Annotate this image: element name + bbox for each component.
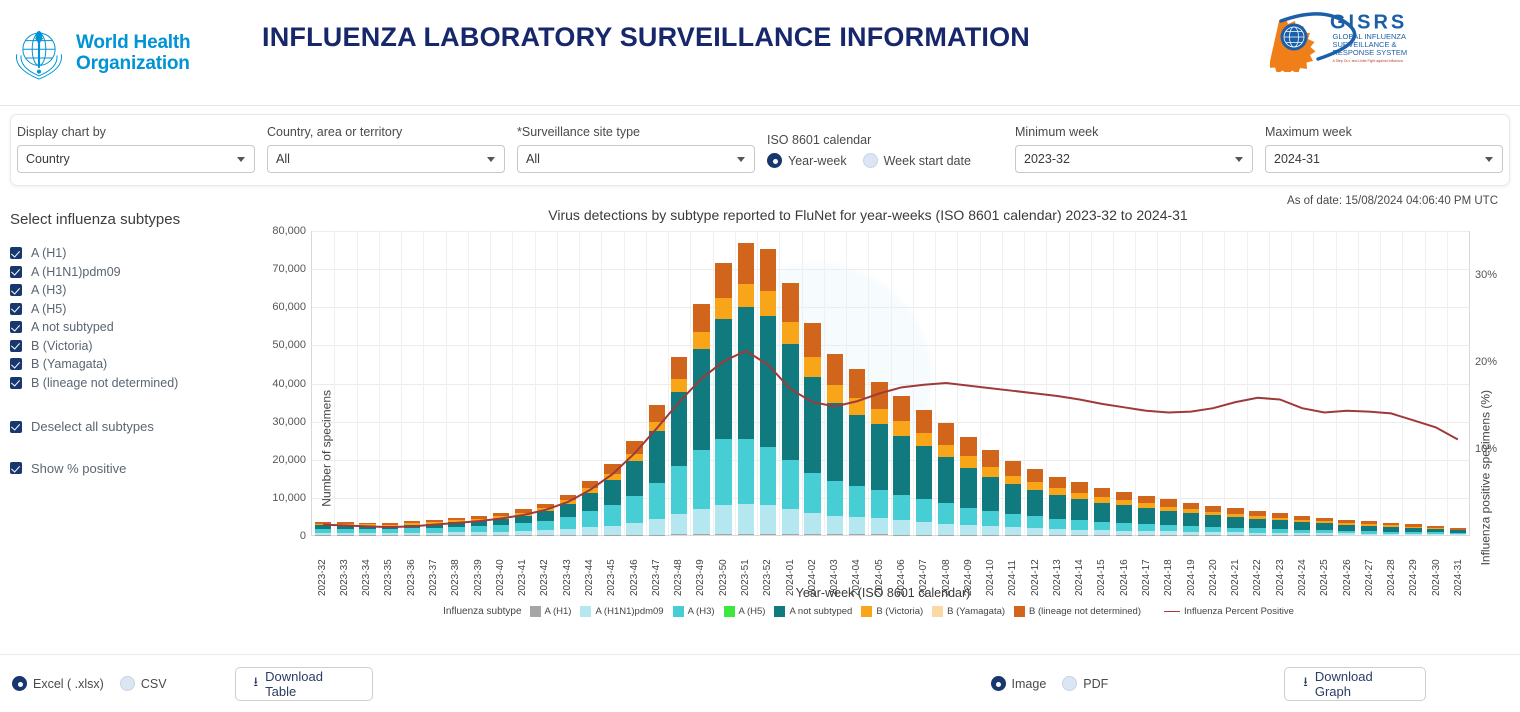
- legend-swatch: [673, 606, 684, 617]
- stacked-bar[interactable]: [382, 523, 398, 535]
- bar-segment: [671, 392, 687, 466]
- legend-item[interactable]: B (Yamagata): [932, 606, 1005, 617]
- bar-segment: [560, 504, 576, 517]
- bar-segment: [960, 468, 976, 508]
- legend-label: Influenza Percent Positive: [1184, 606, 1294, 617]
- bar-segment: [760, 447, 776, 505]
- stacked-bar[interactable]: [649, 405, 665, 535]
- bar-segment: [1071, 482, 1087, 493]
- bar-segment: [827, 403, 843, 481]
- chart-zone: Virus detections by subtype reported to …: [256, 207, 1520, 617]
- bar-segment: [893, 421, 909, 435]
- legend-label: B (lineage not determined): [1029, 606, 1141, 617]
- stacked-bar[interactable]: [827, 354, 843, 535]
- bar-segment: [626, 441, 642, 453]
- stacked-bar[interactable]: [871, 382, 887, 535]
- x-tick-label: 2024-10: [985, 539, 996, 596]
- subtype-checkbox-4[interactable]: A not subtyped: [6, 320, 256, 334]
- bar-segment: [960, 456, 976, 467]
- country-value: All: [276, 152, 290, 166]
- subtype-label: A (H1N1)pdm09: [31, 265, 121, 279]
- stacked-bar[interactable]: [337, 522, 353, 535]
- file-format-option-excel[interactable]: Excel ( .xlsx): [12, 676, 104, 691]
- bar-segment: [782, 322, 798, 344]
- bar-segment: [582, 511, 598, 527]
- bar-segment: [1160, 511, 1176, 525]
- bar-segment: [693, 349, 709, 450]
- bar-segment: [738, 534, 754, 535]
- y-tick-label: 60,000: [272, 301, 312, 313]
- stacked-bar[interactable]: [760, 249, 776, 535]
- bar-segment: [649, 422, 665, 432]
- y-tick-label: 70,000: [272, 263, 312, 275]
- bar-segment: [715, 439, 731, 505]
- bar-segment: [982, 477, 998, 511]
- bar-segment: [960, 508, 976, 526]
- x-tick-slot: 2024-24: [1291, 536, 1313, 596]
- legend-swatch: [530, 606, 541, 617]
- deselect-all-subtypes-checkbox[interactable]: Deselect all subtypes: [6, 419, 256, 434]
- bar-segment: [982, 526, 998, 534]
- filter-country: Country, area or territory All: [261, 125, 511, 173]
- legend-label: A (H1): [545, 606, 572, 617]
- bar-slot: [1224, 231, 1246, 535]
- bar-slot: [1113, 231, 1135, 535]
- bar-segment: [582, 481, 598, 488]
- as-of-date: As of date: 15/08/2024 04:06:40 PM UTC: [0, 195, 1520, 207]
- stacked-bar[interactable]: [782, 283, 798, 535]
- stacked-bar[interactable]: [1160, 499, 1176, 535]
- x-tick-slot: 2023-50: [712, 536, 734, 596]
- bar-slot: [379, 231, 401, 535]
- sidebar-title: Select influenza subtypes: [10, 211, 256, 228]
- calendar-option-year-week[interactable]: Year-week: [767, 153, 847, 168]
- x-tick-slot: 2024-17: [1135, 536, 1157, 596]
- bar-segment: [1049, 477, 1065, 489]
- x-tick-label: 2024-19: [1186, 539, 1197, 596]
- stacked-bar[interactable]: [471, 516, 487, 535]
- bar-segment: [893, 396, 909, 421]
- bar-segment: [715, 534, 731, 535]
- bar-slot: [490, 231, 512, 535]
- stacked-bar[interactable]: [916, 410, 932, 535]
- stacked-bar[interactable]: [626, 441, 642, 535]
- filter-bar: Display chart by Country Country, area o…: [10, 114, 1510, 186]
- bar-segment: [760, 505, 776, 534]
- stacked-bar[interactable]: [1294, 516, 1310, 535]
- x-tick-label: 2023-44: [584, 539, 595, 596]
- stacked-bar[interactable]: [1205, 506, 1221, 535]
- checkbox-checked-icon: [10, 303, 22, 315]
- bar-slot: [913, 231, 935, 535]
- x-tick-slot: 2024-29: [1403, 536, 1425, 596]
- stacked-bar[interactable]: [1071, 482, 1087, 535]
- site-type-value: All: [526, 152, 540, 166]
- graph-format-option-pdf-label: PDF: [1083, 677, 1108, 691]
- legend-item[interactable]: A (H1N1)pdm09: [580, 606, 663, 617]
- subtype-checkbox-2[interactable]: A (H3): [6, 283, 256, 297]
- calendar-radio-group: Year-week Week start date: [767, 153, 1003, 168]
- download-table-button[interactable]: ⭳ Download Table: [235, 667, 373, 701]
- bar-slot: [957, 231, 979, 535]
- stacked-bar[interactable]: [359, 523, 375, 535]
- bar-slot: [1069, 231, 1091, 535]
- bar-segment: [693, 509, 709, 535]
- x-tick-slot: 2023-37: [422, 536, 444, 596]
- min-week-value: 2023-32: [1024, 152, 1070, 166]
- show-percent-positive-checkbox[interactable]: Show % positive: [6, 461, 256, 476]
- x-tick-slot: 2024-05: [868, 536, 890, 596]
- checkbox-checked-icon: [10, 358, 22, 370]
- stacked-bar[interactable]: [938, 423, 954, 535]
- stacked-bar[interactable]: [1427, 526, 1443, 535]
- x-tick-slot: 2024-21: [1225, 536, 1247, 596]
- radio-dot-selected-icon: [12, 676, 27, 691]
- x-tick-slot: 2024-20: [1202, 536, 1224, 596]
- bar-segment: [515, 523, 531, 531]
- page-footer: Excel ( .xlsx) CSV ⭳ Download Table Imag…: [0, 654, 1520, 712]
- display-chart-by-select[interactable]: Country: [17, 145, 255, 173]
- bar-segment: [671, 514, 687, 535]
- subtype-label: A (H1): [31, 246, 66, 260]
- radio-dot-icon: [863, 153, 878, 168]
- legend-item-percent-positive[interactable]: Influenza Percent Positive: [1164, 606, 1294, 617]
- bar-segment: [715, 263, 731, 298]
- stacked-bar[interactable]: [1138, 496, 1154, 535]
- legend-item[interactable]: B (Victoria): [861, 606, 923, 617]
- x-tick-slot: 2023-32: [311, 536, 333, 596]
- stacked-bar[interactable]: [804, 323, 820, 535]
- x-tick-slot: 2023-46: [623, 536, 645, 596]
- x-tick-slot: 2024-18: [1158, 536, 1180, 596]
- stacked-bar[interactable]: [1405, 524, 1421, 535]
- stacked-bar[interactable]: [1227, 508, 1243, 535]
- bar-segment: [849, 415, 865, 486]
- chevron-down-icon: [1485, 157, 1493, 162]
- bar-slot: [713, 231, 735, 535]
- bar-segment: [715, 319, 731, 439]
- bar-segment: [604, 505, 620, 526]
- x-tick-label: 2024-18: [1163, 539, 1174, 596]
- subtype-checkbox-6[interactable]: B (Yamagata): [6, 357, 256, 371]
- x-tick-label: 2024-25: [1319, 539, 1330, 596]
- x-tick-label: 2023-38: [450, 539, 461, 596]
- y-tick-label: 80,000: [272, 225, 312, 237]
- who-wordmark: World Health Organization: [76, 32, 190, 74]
- stacked-bar[interactable]: [1361, 521, 1377, 535]
- bar-segment: [693, 450, 709, 509]
- bar-segment: [604, 464, 620, 474]
- bar-segment: [649, 519, 665, 535]
- stacked-bar[interactable]: [960, 437, 976, 535]
- x-tick-slot: 2024-01: [779, 536, 801, 596]
- checkbox-checked-icon: [10, 377, 22, 389]
- x-tick-label: 2024-11: [1007, 539, 1018, 596]
- stacked-bar[interactable]: [671, 357, 687, 535]
- stacked-bar[interactable]: [560, 495, 576, 535]
- x-tick-label: 2023-52: [762, 539, 773, 596]
- x-tick-slot: 2024-07: [913, 536, 935, 596]
- bar-slot: [1425, 231, 1447, 535]
- stacked-bar[interactable]: [1272, 513, 1288, 535]
- max-week-select[interactable]: 2024-31: [1265, 145, 1503, 173]
- download-graph-label: Download Graph: [1315, 669, 1407, 699]
- stacked-bar[interactable]: [849, 369, 865, 535]
- filter-max-week: Maximum week 2024-31: [1259, 125, 1509, 173]
- x-axis-ticks: 2023-322023-332023-342023-352023-362023-…: [311, 536, 1470, 596]
- x-tick-slot: 2024-14: [1069, 536, 1091, 596]
- subtype-checkbox-7[interactable]: B (lineage not determined): [6, 376, 256, 390]
- stacked-bar[interactable]: [738, 243, 754, 535]
- bar-slot: [846, 231, 868, 535]
- bar-segment: [537, 511, 553, 521]
- bar-segment: [893, 436, 909, 495]
- bar-segment: [1027, 469, 1043, 482]
- bar-segment: [671, 379, 687, 392]
- subtype-label: B (lineage not determined): [31, 376, 178, 390]
- max-week-value: 2024-31: [1274, 152, 1320, 166]
- stacked-bar[interactable]: [1116, 492, 1132, 535]
- bar-segment: [1005, 461, 1021, 476]
- legend-swatch: [1014, 606, 1025, 617]
- checkbox-checked-icon: [10, 247, 22, 259]
- x-tick-label: 2023-51: [740, 539, 751, 596]
- bar-segment: [849, 486, 865, 517]
- download-graph-button[interactable]: ⭳ Download Graph: [1284, 667, 1426, 701]
- bar-segment: [1138, 496, 1154, 504]
- x-tick-label: 2024-29: [1408, 539, 1419, 596]
- x-tick-label: 2024-05: [874, 539, 885, 596]
- stacked-bar[interactable]: [893, 396, 909, 535]
- bar-segment: [649, 405, 665, 421]
- bar-segment: [626, 523, 642, 535]
- bar-segment: [871, 490, 887, 519]
- bar-segment: [827, 516, 843, 535]
- site-type-select[interactable]: All: [517, 145, 755, 173]
- bar-segment: [1316, 523, 1332, 530]
- x-tick-label: 2023-37: [428, 539, 439, 596]
- legend-item[interactable]: B (lineage not determined): [1014, 606, 1141, 617]
- bar-segment: [626, 496, 642, 523]
- x-tick-slot: 2023-43: [556, 536, 578, 596]
- who-wordmark-line1: World Health: [76, 32, 190, 53]
- bar-slot: [512, 231, 534, 535]
- subtype-checkbox-3[interactable]: A (H5): [6, 302, 256, 316]
- bar-segment: [1005, 484, 1021, 514]
- stacked-bar[interactable]: [1316, 518, 1332, 535]
- x-tick-slot: 2024-19: [1180, 536, 1202, 596]
- gisrs-logo: GISRS GLOBAL INFLUENZA SURVEILLANCE & RE…: [1270, 6, 1420, 72]
- bar-segment: [782, 534, 798, 535]
- bar-segment: [1116, 505, 1132, 523]
- chart-plot-area[interactable]: 010,00020,00030,00040,00050,00060,00070,…: [311, 231, 1470, 536]
- x-tick-label: 2024-12: [1030, 539, 1041, 596]
- stacked-bar[interactable]: [315, 522, 331, 535]
- checkbox-checked-icon: [10, 284, 22, 296]
- download-icon: ⭳: [1303, 673, 1308, 695]
- bar-slot: [468, 231, 490, 535]
- bar-slot: [646, 231, 668, 535]
- bar-segment: [604, 526, 620, 535]
- bar-segment: [1027, 482, 1043, 490]
- bar-slot: [535, 231, 557, 535]
- x-tick-slot: 2024-10: [979, 536, 1001, 596]
- bar-segment: [1138, 508, 1154, 524]
- stacked-bar[interactable]: [1027, 469, 1043, 535]
- x-tick-label: 2024-04: [851, 539, 862, 596]
- country-label: Country, area or territory: [267, 125, 505, 139]
- x-tick-label: 2023-39: [473, 539, 484, 596]
- bar-segment: [1116, 523, 1132, 531]
- x-tick-label: 2024-23: [1275, 539, 1286, 596]
- bar-segment: [1205, 515, 1221, 527]
- checkbox-checked-icon: [10, 321, 22, 333]
- bar-slot: [1291, 231, 1313, 535]
- country-select[interactable]: All: [267, 145, 505, 173]
- calendar-option-year-week-label: Year-week: [788, 154, 847, 168]
- legend-item[interactable]: A not subtyped: [774, 606, 852, 617]
- download-icon: ⭳: [254, 673, 259, 695]
- subtype-checkbox-1[interactable]: A (H1N1)pdm09: [6, 265, 256, 279]
- bar-segment: [760, 249, 776, 291]
- who-wordmark-line2: Organization: [76, 53, 190, 74]
- x-tick-slot: 2024-03: [823, 536, 845, 596]
- bar-slot: [1402, 231, 1424, 535]
- bar-slot: [868, 231, 890, 535]
- bar-slot: [1247, 231, 1269, 535]
- bar-segment: [804, 323, 820, 357]
- gisrs-line3: RESPONSE SYSTEM: [1333, 48, 1408, 57]
- subtype-label: A not subtyped: [31, 320, 114, 334]
- bar-segment: [738, 504, 754, 535]
- stacked-bar[interactable]: [1383, 523, 1399, 535]
- x-tick-slot: 2024-31: [1447, 536, 1469, 596]
- x-tick-label: 2023-46: [629, 539, 640, 596]
- x-tick-label: 2024-17: [1141, 539, 1152, 596]
- stacked-bar[interactable]: [1049, 477, 1065, 535]
- bar-slot: [802, 231, 824, 535]
- bar-segment: [493, 525, 509, 532]
- subtype-checkbox-0[interactable]: A (H1): [6, 246, 256, 260]
- x-tick-label: 2024-15: [1096, 539, 1107, 596]
- radio-dot-icon: [1062, 676, 1077, 691]
- bar-segment: [982, 511, 998, 526]
- x-tick-label: 2024-13: [1052, 539, 1063, 596]
- bar-segment: [938, 423, 954, 444]
- stacked-bar[interactable]: [1005, 461, 1021, 535]
- bar-slot: [1313, 231, 1335, 535]
- bar-segment: [738, 307, 754, 439]
- stacked-bar[interactable]: [582, 481, 598, 535]
- page-header: World Health Organization INFLUENZA LABO…: [0, 0, 1520, 106]
- stacked-bar[interactable]: [1249, 511, 1265, 535]
- display-chart-by-value: Country: [26, 152, 70, 166]
- x-tick-label: 2024-22: [1252, 539, 1263, 596]
- who-logo: World Health Organization: [8, 22, 190, 84]
- x-tick-label: 2024-02: [807, 539, 818, 596]
- bar-slot: [1180, 231, 1202, 535]
- stacked-bar[interactable]: [426, 520, 442, 535]
- stacked-bar[interactable]: [404, 521, 420, 535]
- bar-slot: [668, 231, 690, 535]
- stacked-bar[interactable]: [982, 450, 998, 535]
- stacked-bar[interactable]: [604, 464, 620, 535]
- stacked-bar[interactable]: [715, 263, 731, 535]
- stacked-bar[interactable]: [693, 304, 709, 535]
- x-tick-label: 2023-34: [361, 539, 372, 596]
- legend-label: A (H5): [739, 606, 766, 617]
- bar-segment: [1005, 514, 1021, 527]
- bar-segment: [871, 518, 887, 534]
- filter-site-type: *Surveillance site type All: [511, 125, 761, 173]
- bar-segment: [693, 304, 709, 332]
- bar-segment: [1094, 522, 1110, 530]
- stacked-bar[interactable]: [448, 518, 464, 535]
- x-tick-slot: 2024-30: [1425, 536, 1447, 596]
- checkbox-checked-icon: [10, 266, 22, 278]
- x-tick-slot: 2024-25: [1314, 536, 1336, 596]
- bar-segment: [1049, 519, 1065, 529]
- bar-segment: [738, 284, 754, 308]
- calendar-option-week-start-date[interactable]: Week start date: [863, 153, 971, 168]
- filter-min-week: Minimum week 2023-32: [1009, 125, 1259, 173]
- gisrs-gear-icon: [1270, 18, 1316, 72]
- bar-segment: [649, 483, 665, 519]
- stacked-bar[interactable]: [1183, 503, 1199, 535]
- checkbox-checked-icon: [10, 462, 22, 474]
- legend-item[interactable]: A (H3): [673, 606, 715, 617]
- x-tick-label: 2023-32: [317, 539, 328, 596]
- stacked-bar[interactable]: [493, 513, 509, 535]
- x-tick-label: 2023-45: [606, 539, 617, 596]
- bar-slot: [779, 231, 801, 535]
- radio-dot-selected-icon: [767, 153, 782, 168]
- stacked-bar[interactable]: [1338, 520, 1354, 535]
- legend-title: Influenza subtype: [443, 606, 521, 617]
- x-tick-slot: 2023-38: [445, 536, 467, 596]
- gisrs-acronym: GISRS: [1330, 12, 1407, 34]
- x-tick-label: 2023-42: [539, 539, 550, 596]
- x-tick-slot: 2024-02: [801, 536, 823, 596]
- file-format-option-csv[interactable]: CSV: [120, 676, 167, 691]
- subtype-checkbox-5[interactable]: B (Victoria): [6, 339, 256, 353]
- bar-segment: [871, 534, 887, 535]
- stacked-bar[interactable]: [1450, 528, 1466, 535]
- x-tick-label: 2024-20: [1208, 539, 1219, 596]
- x-tick-label: 2023-36: [406, 539, 417, 596]
- bar-slot: [935, 231, 957, 535]
- y-tick-label-right: 30%: [1469, 269, 1497, 281]
- bar-segment: [982, 450, 998, 467]
- bar-slot: [1269, 231, 1291, 535]
- stacked-bar[interactable]: [1094, 488, 1110, 535]
- stacked-bar[interactable]: [537, 504, 553, 535]
- x-tick-slot: 2024-22: [1247, 536, 1269, 596]
- legend-item[interactable]: A (H1): [530, 606, 572, 617]
- legend-label: A (H1N1)pdm09: [595, 606, 663, 617]
- stacked-bar[interactable]: [515, 509, 531, 535]
- min-week-select[interactable]: 2023-32: [1015, 145, 1253, 173]
- bar-segment: [560, 517, 576, 529]
- legend-item[interactable]: A (H5): [724, 606, 766, 617]
- bar-segment: [760, 291, 776, 315]
- bar-segment: [1272, 520, 1288, 529]
- gisrs-tagline: A Step Ou r and Unite Fight against Infl…: [1333, 59, 1403, 63]
- bar-segment: [804, 513, 820, 534]
- graph-format-option-image[interactable]: Image: [991, 676, 1047, 691]
- graph-format-option-pdf[interactable]: PDF: [1062, 676, 1108, 691]
- bar-segment: [1049, 488, 1065, 495]
